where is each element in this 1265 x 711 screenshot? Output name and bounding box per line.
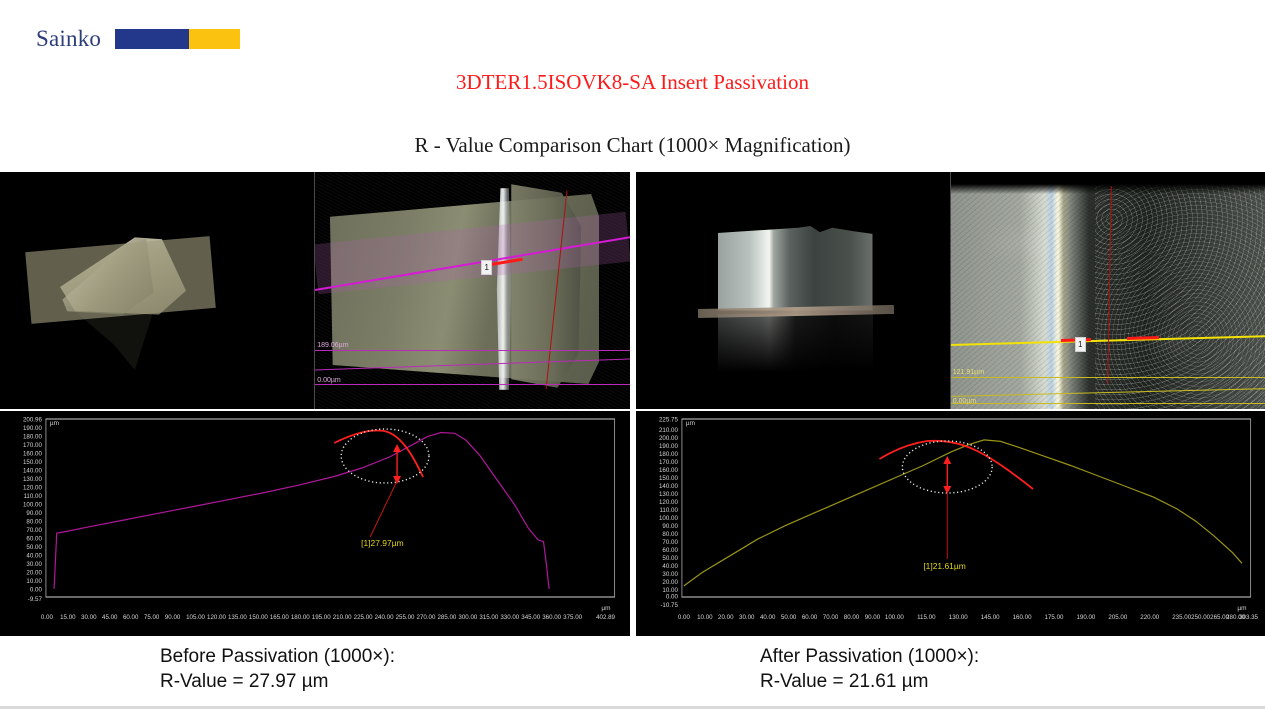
svg-text:µm: µm (601, 605, 610, 612)
svg-text:60.00: 60.00 (801, 614, 817, 621)
svg-text:110.00: 110.00 (23, 493, 42, 500)
svg-text:40.00: 40.00 (662, 563, 678, 570)
measurement-marker-1[interactable]: 1 (1075, 337, 1086, 352)
scale-gridline-top (951, 377, 1265, 378)
scale-gridline-bottom (315, 384, 629, 385)
svg-text:402.89: 402.89 (596, 614, 615, 621)
svg-text:70.00: 70.00 (662, 539, 678, 546)
svg-text:190.00: 190.00 (23, 425, 42, 432)
svg-text:-10.75: -10.75 (660, 602, 678, 609)
svg-text:175.00: 175.00 (1044, 614, 1063, 621)
svg-text:100.00: 100.00 (658, 515, 677, 522)
svg-text:330.00: 330.00 (500, 614, 519, 621)
caption-after-line1: After Passivation (1000×): (760, 644, 979, 669)
svg-text:60.00: 60.00 (123, 614, 139, 621)
svg-text:180.00: 180.00 (291, 614, 310, 621)
micro-scale-bottom-label: 0.00µm (953, 398, 977, 405)
svg-text:160.00: 160.00 (23, 450, 42, 457)
svg-text:-9.57: -9.57 (28, 596, 43, 603)
svg-text:375.00: 375.00 (563, 614, 582, 621)
svg-text:235.00: 235.00 (1172, 614, 1191, 621)
svg-text:140.00: 140.00 (23, 467, 42, 474)
panel-after-passivation: 1 121.91µm 0.00µm 225.75 210.00 200.00 1… (636, 172, 1265, 636)
svg-text:150.00: 150.00 (249, 614, 268, 621)
svg-text:160.00: 160.00 (1012, 614, 1031, 621)
three-d-render-before[interactable] (0, 172, 314, 409)
annotation-label-before: [1]27.97µm (361, 538, 403, 548)
svg-text:40.00: 40.00 (759, 614, 775, 621)
scale-gridline-top (315, 350, 629, 351)
svg-text:110.00: 110.00 (659, 507, 678, 514)
render-solid-reflection (718, 314, 873, 372)
brand-name: Sainko (36, 26, 101, 52)
svg-text:200.00: 200.00 (658, 435, 677, 442)
profile-chart-after[interactable]: 225.75 210.00 200.00 190.00 180.00 170.0… (636, 409, 1265, 636)
svg-text:80.00: 80.00 (26, 518, 42, 525)
svg-text:120.00: 120.00 (207, 614, 226, 621)
svg-text:120.00: 120.00 (23, 484, 42, 491)
three-d-render-after[interactable] (636, 172, 950, 409)
profile-chart-after-svg: 225.75 210.00 200.00 190.00 180.00 170.0… (636, 411, 1265, 636)
microscope-view-after[interactable]: 1 121.91µm 0.00µm (950, 172, 1265, 409)
svg-text:50.00: 50.00 (780, 614, 796, 621)
svg-text:210.00: 210.00 (658, 427, 677, 434)
svg-text:270.00: 270.00 (417, 614, 436, 621)
render-solid (718, 226, 873, 314)
svg-text:80.00: 80.00 (662, 531, 678, 538)
micro-scale-top-label: 121.91µm (953, 369, 984, 376)
svg-text:345.00: 345.00 (521, 614, 540, 621)
svg-text:225.00: 225.00 (354, 614, 373, 621)
svg-text:160.00: 160.00 (658, 467, 677, 474)
svg-text:45.00: 45.00 (102, 614, 118, 621)
svg-text:70.00: 70.00 (26, 527, 42, 534)
footer-divider (0, 706, 1265, 709)
svg-text:75.00: 75.00 (144, 614, 160, 621)
micro-scale-bottom-label: 0.00µm (317, 377, 341, 384)
brand-logo: Sainko (36, 26, 240, 52)
svg-text:190.00: 190.00 (658, 443, 677, 450)
profile-chart-before-svg: 200.96 190.00 180.00 170.00 160.00 150.0… (0, 411, 630, 636)
svg-text:90.00: 90.00 (26, 510, 42, 517)
svg-text:225.75: 225.75 (658, 416, 677, 423)
svg-text:135.00: 135.00 (228, 614, 247, 621)
svg-text:285.00: 285.00 (437, 614, 456, 621)
svg-text:100.00: 100.00 (884, 614, 903, 621)
svg-text:30.00: 30.00 (81, 614, 97, 621)
caption-before-line2: R-Value = 27.97 µm (160, 669, 395, 694)
svg-text:60.00: 60.00 (26, 535, 42, 542)
svg-text:200.96: 200.96 (23, 416, 42, 423)
svg-text:µm: µm (50, 420, 59, 427)
svg-text:20.00: 20.00 (718, 614, 734, 621)
svg-text:145.00: 145.00 (980, 614, 999, 621)
svg-text:µm: µm (1237, 605, 1246, 612)
panel-before-passivation: 1 189.06µm 0.00µm 200.96 190.00 180. (0, 172, 630, 636)
svg-text:0.00: 0.00 (677, 614, 690, 621)
brand-color-bars (115, 29, 240, 49)
svg-text:50.00: 50.00 (662, 555, 678, 562)
svg-text:90.00: 90.00 (864, 614, 880, 621)
svg-text:180.00: 180.00 (658, 451, 677, 458)
caption-after: After Passivation (1000×): R-Value = 21.… (760, 644, 979, 694)
svg-text:50.00: 50.00 (26, 544, 42, 551)
svg-text:20.00: 20.00 (26, 569, 42, 576)
svg-text:60.00: 60.00 (662, 547, 678, 554)
micro-scale-top-label: 189.06µm (317, 342, 348, 349)
svg-text:360.00: 360.00 (542, 614, 561, 621)
microscope-view-before[interactable]: 1 189.06µm 0.00µm (314, 172, 629, 409)
svg-text:130.00: 130.00 (23, 476, 42, 483)
svg-text:165.00: 165.00 (270, 614, 289, 621)
svg-text:120.00: 120.00 (658, 499, 677, 506)
svg-text:140.00: 140.00 (658, 483, 677, 490)
chart-title: R - Value Comparison Chart (1000× Magnif… (0, 133, 1265, 158)
svg-text:105.00: 105.00 (186, 614, 205, 621)
svg-text:210.00: 210.00 (333, 614, 352, 621)
svg-text:150.00: 150.00 (23, 459, 42, 466)
render-cut-plane (25, 236, 216, 324)
panel-before-top-views: 1 189.06µm 0.00µm (0, 172, 630, 409)
svg-text:303.35: 303.35 (1239, 614, 1258, 621)
svg-text:µm: µm (685, 420, 694, 427)
svg-text:30.00: 30.00 (662, 571, 678, 578)
svg-text:0.00: 0.00 (665, 593, 678, 600)
panel-after-top-views: 1 121.91µm 0.00µm (636, 172, 1265, 409)
svg-text:130.00: 130.00 (948, 614, 967, 621)
caption-before-line1: Before Passivation (1000×): (160, 644, 395, 669)
svg-text:220.00: 220.00 (1140, 614, 1159, 621)
svg-text:255.00: 255.00 (396, 614, 415, 621)
svg-text:300.00: 300.00 (458, 614, 477, 621)
profile-chart-before[interactable]: 200.96 190.00 180.00 170.00 160.00 150.0… (0, 409, 630, 636)
svg-text:115.00: 115.00 (917, 614, 936, 621)
svg-text:90.00: 90.00 (165, 614, 181, 621)
caption-before: Before Passivation (1000×): R-Value = 27… (160, 644, 395, 694)
svg-text:90.00: 90.00 (662, 523, 678, 530)
svg-text:150.00: 150.00 (658, 475, 677, 482)
svg-text:130.00: 130.00 (658, 491, 677, 498)
svg-text:190.00: 190.00 (1076, 614, 1095, 621)
micro-top-mask (951, 172, 1265, 194)
svg-text:40.00: 40.00 (26, 552, 42, 559)
svg-text:30.00: 30.00 (739, 614, 755, 621)
scale-gridline-bottom (951, 403, 1265, 404)
caption-after-line2: R-Value = 21.61 µm (760, 669, 979, 694)
svg-text:70.00: 70.00 (822, 614, 838, 621)
svg-text:10.00: 10.00 (697, 614, 713, 621)
document-title: 3DTER1.5ISOVK8-SA Insert Passivation (0, 70, 1265, 95)
svg-text:30.00: 30.00 (26, 561, 42, 568)
svg-text:0.00: 0.00 (41, 614, 54, 621)
svg-text:205.00: 205.00 (1108, 614, 1127, 621)
svg-text:20.00: 20.00 (662, 579, 678, 586)
svg-text:315.00: 315.00 (479, 614, 498, 621)
svg-text:250.00: 250.00 (1191, 614, 1210, 621)
svg-text:100.00: 100.00 (23, 501, 42, 508)
panel-captions: Before Passivation (1000×): R-Value = 27… (0, 640, 1265, 700)
measurement-marker-1[interactable]: 1 (481, 260, 492, 275)
svg-text:80.00: 80.00 (843, 614, 859, 621)
svg-text:10.00: 10.00 (26, 578, 42, 585)
brand-bar-gold (189, 29, 240, 49)
svg-text:15.00: 15.00 (60, 614, 76, 621)
svg-text:195.00: 195.00 (312, 614, 331, 621)
svg-text:180.00: 180.00 (23, 433, 42, 440)
annotation-label-after: [1]21.61µm (923, 561, 965, 571)
svg-text:170.00: 170.00 (658, 459, 677, 466)
svg-text:0.00: 0.00 (30, 586, 43, 593)
svg-text:240.00: 240.00 (375, 614, 394, 621)
brand-bar-blue (115, 29, 189, 49)
svg-text:170.00: 170.00 (23, 442, 42, 449)
comparison-panels: 1 189.06µm 0.00µm 200.96 190.00 180. (0, 172, 1265, 636)
